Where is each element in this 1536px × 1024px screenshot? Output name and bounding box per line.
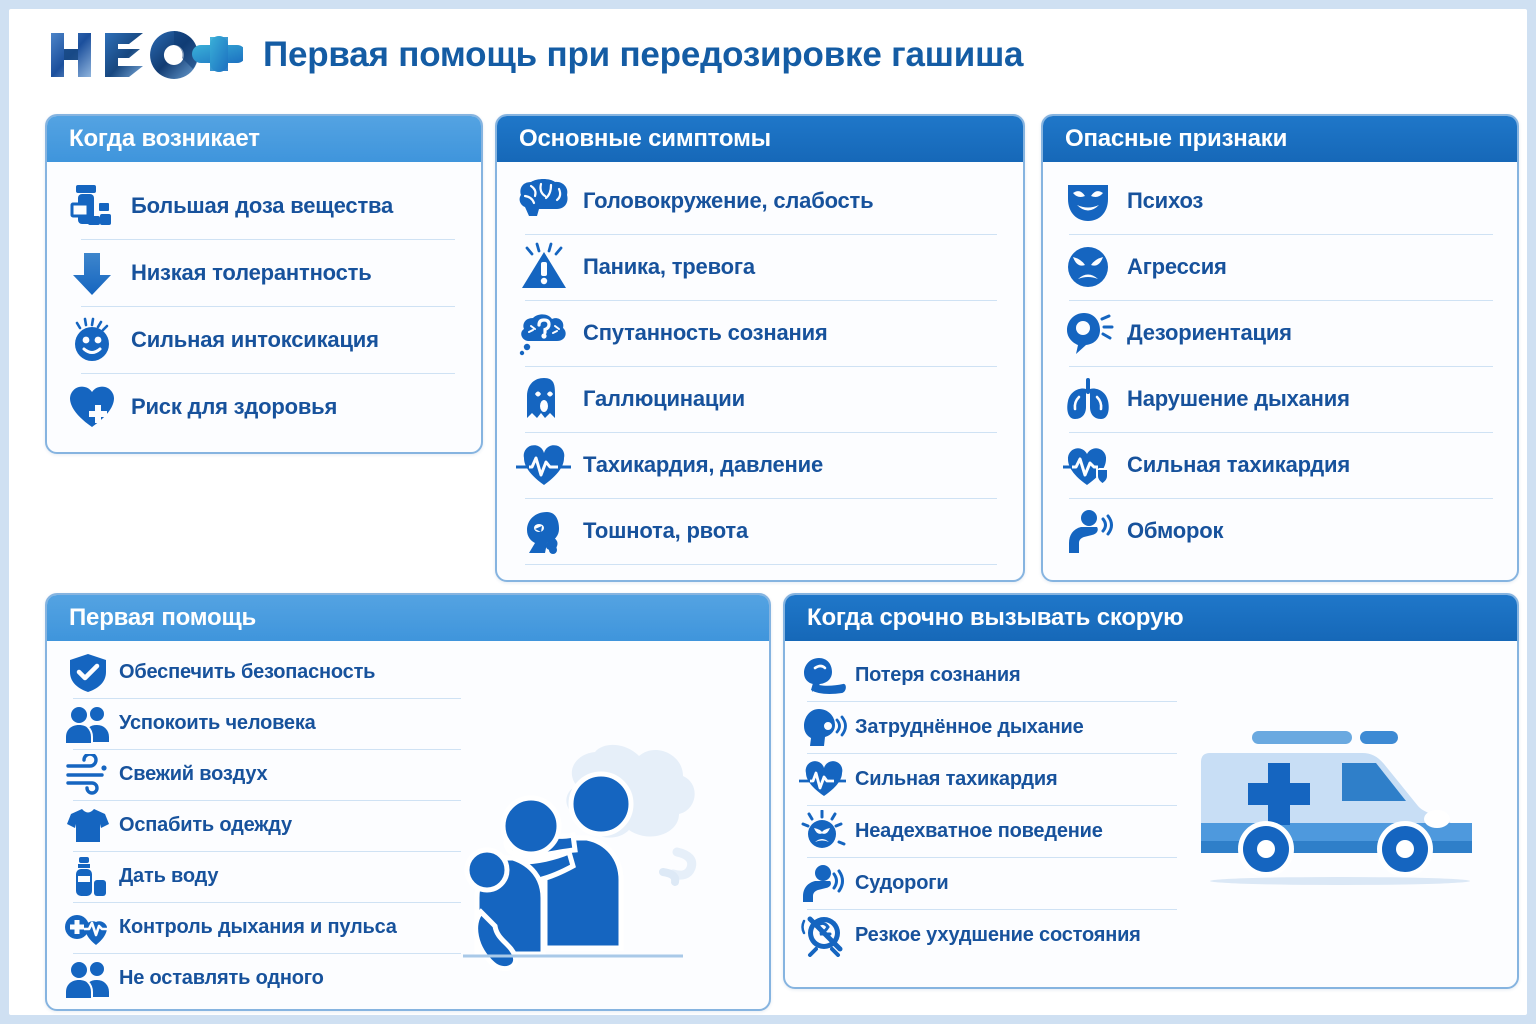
neo-plus-logo [47,27,243,83]
list-item: Контроль дыхания и пульса [63,902,463,953]
list-item-label: Не оставлять одного [119,967,324,990]
ghost-icon [513,369,575,429]
list-item: Успокоить человека [63,698,463,749]
card-first-aid-body: Обеспечить безопасность Успокоить челове… [47,641,769,1010]
list-item: Сильная тахикардия [799,753,1179,805]
card-call-ambulance-title: Когда срочно вызывать скорую [785,595,1517,641]
list-item: Тошнота, рвота [513,498,1005,564]
list-item: Не оставлять одного [63,953,463,1004]
down-arrow-icon [63,244,121,302]
heart-pulse-icon [513,435,575,495]
list-item-label: Головокружение, слабость [583,188,873,214]
list-item-label: Контроль дыхания и пульса [119,916,397,939]
breathing-head-icon [799,704,849,750]
list-item-label: Дезориентация [1127,320,1292,346]
card-danger-signs: Опасные признаки Психоз [1041,114,1519,582]
list-item: Низкая толерантность [63,239,465,306]
ambulance-icon [1190,715,1490,895]
card-call-ambulance-list: Потеря сознания Затруднённое дыхание [799,649,1179,961]
heart-pulse-shield-icon [1057,436,1119,494]
list-item-label: Обеспечить безопасность [119,661,375,684]
heart-monitor-icon [63,906,113,950]
list-item-label: Психоз [1127,188,1203,214]
card-when-occurs-title: Когда возникает [47,116,481,162]
evil-mask-icon [1057,172,1119,230]
brain-icon [513,171,575,231]
list-item: Тахикардия, давление [513,432,1005,498]
list-item-label: Галлюцинации [583,386,745,412]
list-item-label: Низкая толерантность [131,260,372,286]
list-item: Большая доза вещества [63,172,465,239]
two-people-icon [63,702,113,746]
unconscious-person-icon [799,652,849,698]
list-item: Головокружение, слабость [513,168,1005,234]
list-item-label: Большая доза вещества [131,193,393,219]
ambulance-illustration [1179,649,1501,961]
list-item-label: Нарушение дыхания [1127,386,1350,412]
card-danger-signs-list: Психоз Агрессия [1043,162,1517,570]
list-item-label: Успокоить человека [119,712,316,735]
list-item: Сильная интоксикация [63,306,465,373]
list-item: Дать воду [63,851,463,902]
list-item-label: Оспабить одежду [119,814,292,837]
card-when-occurs: Когда возникает Большая доза вещества [45,114,483,454]
list-item-label: Сильная тахикардия [1127,452,1350,478]
list-item-label: Свежий воздух [119,763,267,786]
list-item: Агрессия [1057,234,1501,300]
list-item: Обеспечить безопасность [63,647,463,698]
no-entry-person-icon [799,912,849,958]
list-item: Резкое ухудшение состояния [799,909,1179,961]
list-item: Паника, тревога [513,234,1005,300]
card-main-symptoms-list: Головокружение, слабость Паника, тревога [497,162,1023,571]
page-header: Первая помощь при передозировке гашиша [9,9,1527,101]
agitated-face-icon [799,808,849,854]
two-people-supporting-icon [463,726,763,996]
heart-cross-icon [63,378,121,436]
list-item: Спутанность сознания [513,300,1005,366]
list-item-label: Обморок [1127,518,1223,544]
warning-triangle-icon [513,237,575,297]
card-main-symptoms-title: Основные симптомы [497,116,1023,162]
list-item-label: Судороги [855,872,948,895]
card-first-aid-list: Обеспечить безопасность Успокоить челове… [63,647,463,1004]
fainting-person-icon [1057,502,1119,560]
lungs-icon [1057,370,1119,428]
two-people-icon [63,957,113,1001]
wind-icon [63,753,113,797]
list-item-label: Сильная интоксикация [131,327,379,353]
list-item-label: Паника, тревога [583,254,755,280]
list-item: Свежий воздух [63,749,463,800]
list-item-label: Тошнота, рвота [583,518,748,544]
heart-pulse-icon [799,756,849,802]
list-item: Сильная тахикардия [1057,432,1501,498]
convulsion-person-icon [799,860,849,906]
question-cloud-icon [513,303,575,363]
dizzy-head-icon [1057,304,1119,362]
list-item-label: Неадехватное поведение [855,820,1103,843]
shield-check-icon [63,651,113,695]
list-item: Потеря сознания [799,649,1179,701]
list-item: Обморок [1057,498,1501,564]
list-item-label: Риск для здоровья [131,394,337,420]
dizzy-face-icon [63,311,121,369]
angry-face-icon [1057,238,1119,296]
list-item-label: Резкое ухудшение состояния [855,924,1141,947]
list-item: Неадехватное поведение [799,805,1179,857]
list-item-label: Затруднённое дыхание [855,716,1084,739]
card-when-occurs-list: Большая доза вещества Низкая толерантнос… [47,162,481,448]
list-item-label: Спутанность сознания [583,320,828,346]
list-item: Галлюцинации [513,366,1005,432]
water-bottle-icon [63,855,113,899]
list-item: Оспабить одежду [63,800,463,851]
two-people-supporting-illustration [463,647,763,1004]
list-item: Затруднённое дыхание [799,701,1179,753]
list-item: Психоз [1057,168,1501,234]
list-item: Риск для здоровья [63,373,465,440]
card-main-symptoms: Основные симптомы Головокружение, слабос… [495,114,1025,582]
list-item: Судороги [799,857,1179,909]
list-item: Дезориентация [1057,300,1501,366]
list-item-label: Потеря сознания [855,664,1020,687]
infographic-canvas: Первая помощь при передозировке гашиша К… [9,9,1527,1015]
list-item-label: Тахикардия, давление [583,452,823,478]
card-call-ambulance: Когда срочно вызывать скорую Потеря созн… [783,593,1519,989]
list-item-label: Сильная тахикардия [855,768,1057,791]
page-title: Первая помощь при передозировке гашиша [263,35,1023,75]
card-danger-signs-title: Опасные признаки [1043,116,1517,162]
pill-bottle-icon [63,177,121,235]
card-first-aid: Первая помощь Обеспечить безопасность [45,593,771,1011]
card-first-aid-title: Первая помощь [47,595,769,641]
list-item-label: Агрессия [1127,254,1227,280]
tshirt-icon [63,804,113,848]
list-item-label: Дать воду [119,865,218,888]
vomiting-head-icon [513,501,575,561]
list-item: Нарушение дыхания [1057,366,1501,432]
card-call-ambulance-body: Потеря сознания Затруднённое дыхание [785,641,1517,967]
